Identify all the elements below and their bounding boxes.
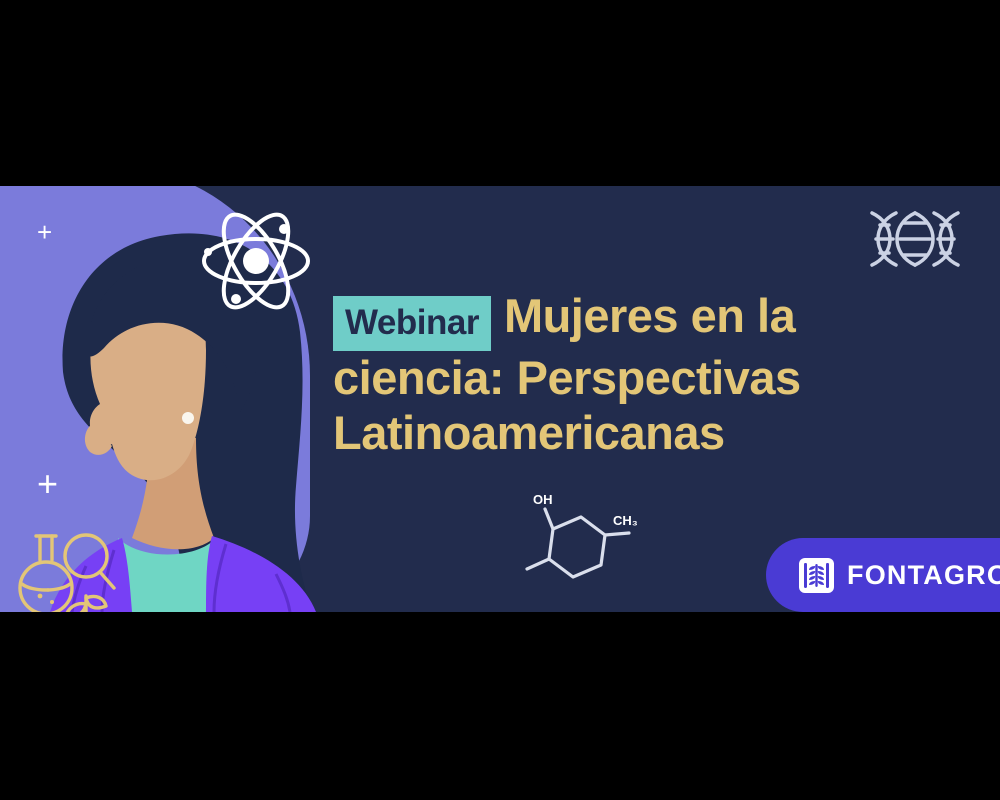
- dna-helix-icon: [862, 208, 968, 270]
- fontagro-logo[interactable]: FONTAGRO: [766, 538, 1000, 612]
- wheat-grain-icon: [799, 558, 834, 593]
- molecule-label-ch3: CH₃: [613, 513, 638, 528]
- atom-icon: [196, 204, 316, 319]
- screenshot-stage: OH CH₃: [0, 0, 1000, 800]
- molecule-label-oh: OH: [533, 492, 553, 507]
- earring-icon: [182, 412, 194, 424]
- letterbox-bottom: [0, 612, 1000, 800]
- letterbox-top: [0, 0, 1000, 186]
- molecule-structure-icon: OH CH₃: [505, 491, 650, 601]
- webinar-badge: Webinar: [333, 296, 491, 351]
- flask-magnifier-plant-icon: [8, 526, 123, 612]
- fontagro-wordmark: FONTAGRO: [847, 560, 1000, 591]
- mint-top-shape: [118, 538, 216, 612]
- headline-block: WebinarMujeres en la ciencia: Perspectiv…: [333, 289, 958, 460]
